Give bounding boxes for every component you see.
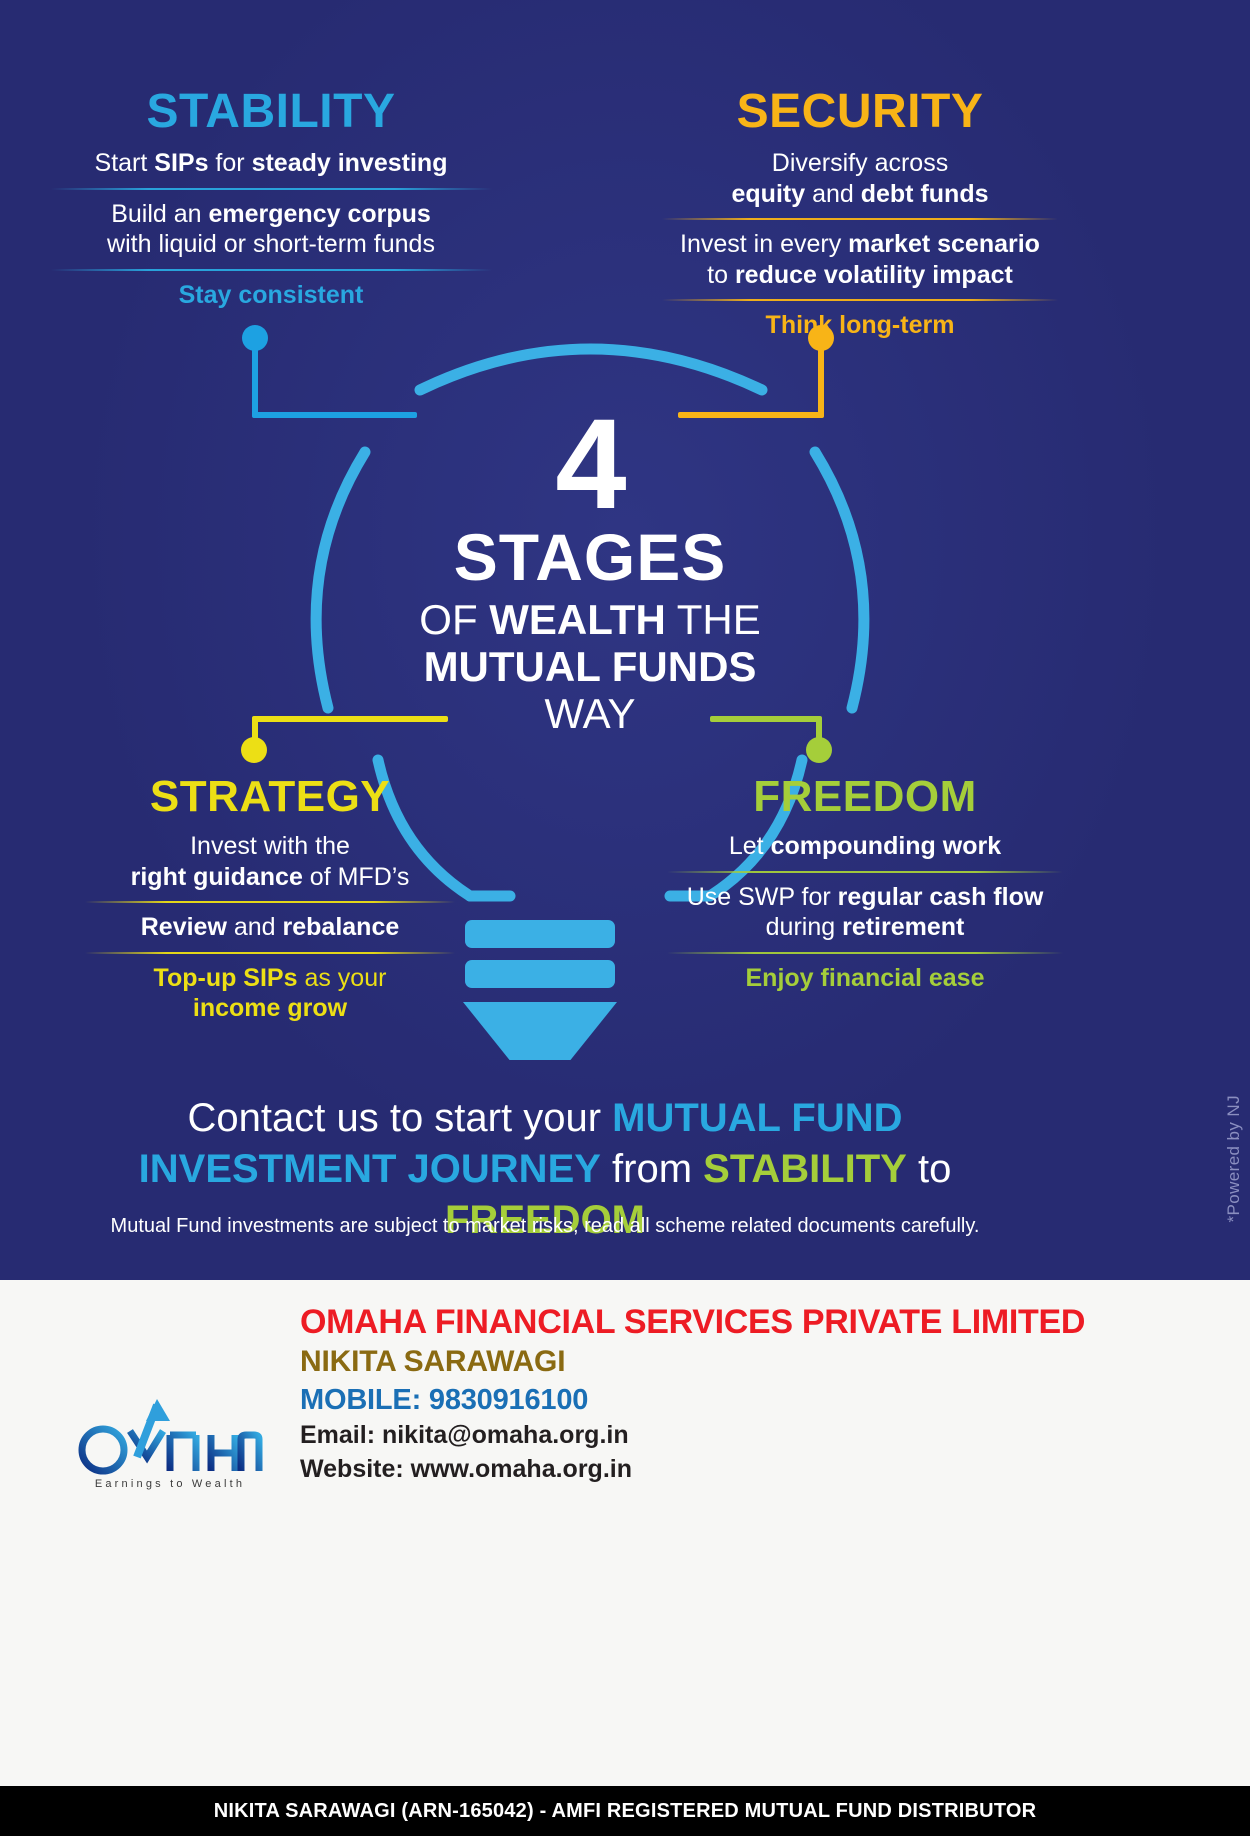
omaha-logo [75, 1373, 265, 1488]
quadrant-security-title: SECURITY [630, 88, 1090, 136]
st-l1-post: of MFD’s [303, 863, 410, 891]
quadrant-strategy-line3: Review and rebalance [60, 912, 480, 943]
footer-company-name: OMAHA FINANCIAL SERVICES PRIVATE LIMITED [300, 1303, 1170, 1342]
st-l2-b2: rebalance [283, 913, 400, 941]
s-l1-mid: for [208, 149, 251, 177]
st-tag-rest: as your [298, 964, 387, 992]
logo-letter-h [211, 1435, 235, 1471]
cta-part1: Contact us to start your [188, 1096, 613, 1140]
quadrant-freedom-rule-2 [667, 952, 1063, 954]
center-headline: 4 STAGES OF WEALTH THE MUTUAL FUNDS WAY [330, 410, 850, 737]
st-tag-b: Top-up SIPs [154, 964, 298, 992]
quadrant-strategy-title: STRATEGY [60, 775, 480, 819]
arn-disclosure-bar: NIKITA SARAWAGI (ARN-165042) - AMFI REGI… [0, 1786, 1250, 1836]
arn-disclosure-text: NIKITA SARAWAGI (ARN-165042) - AMFI REGI… [214, 1800, 1037, 1823]
se-l1-mid: and [805, 180, 861, 208]
headline-wealth: WEALTH [489, 596, 666, 643]
f-l2-mid: during [766, 913, 842, 941]
footer-person-name: NIKITA SARAWAGI [300, 1344, 1170, 1380]
cta-highlight-stability: STABILITY [703, 1147, 907, 1191]
f-l2-b2: retirement [842, 913, 964, 941]
powered-by-label: *Powered by NJ [1224, 1095, 1244, 1223]
footer-website[interactable]: Website: www.omaha.org.in [300, 1453, 1170, 1486]
st-l2-b1: Review [141, 913, 227, 941]
cta-highlight-mutual-fund: MUTUAL FUND [612, 1096, 902, 1140]
footer-email[interactable]: Email: nikita@omaha.org.in [300, 1419, 1170, 1452]
st-l2-mid: and [227, 913, 283, 941]
f-l1-pre: Let [729, 832, 771, 860]
cta-part2: from [601, 1147, 703, 1191]
logo-arrow-head [146, 1399, 170, 1421]
se-l1-b2: debt funds [861, 180, 989, 208]
cta-highlight-journey: INVESTMENT JOURNEY [139, 1147, 601, 1191]
quadrant-strategy-tag-line2: income grow [60, 993, 480, 1023]
s-l1-b2: steady investing [252, 149, 448, 177]
quadrant-freedom-rule-1 [667, 871, 1063, 873]
quadrant-stability-title: STABILITY [26, 88, 516, 136]
cta-part3: to [907, 1147, 951, 1191]
quadrant-security-line2: equity and debt funds [630, 179, 1090, 210]
headline-of: OF [419, 596, 489, 643]
quadrant-stability-line2: Build an emergency corpus [26, 199, 516, 230]
quadrant-security-rule-2 [662, 299, 1058, 301]
f-l1-b1: compounding work [771, 832, 1002, 860]
se-l2-b1: market scenario [848, 230, 1040, 258]
footer-contact-block: OMAHA FINANCIAL SERVICES PRIVATE LIMITED… [300, 1303, 1170, 1485]
connector-stability-vertical [252, 348, 258, 416]
headline-the: THE [666, 596, 761, 643]
quadrant-strategy-line2: right guidance of MFD’s [60, 862, 480, 893]
f-l2-pre: Use SWP for [687, 883, 838, 911]
headline-stages: STAGES [330, 524, 850, 590]
se-l2-mid: to [707, 261, 735, 289]
quadrant-strategy-rule-1 [85, 901, 455, 903]
s-l1-b1: SIPs [154, 149, 208, 177]
se-l2-pre: Invest in every [680, 230, 848, 258]
quadrant-strategy-rule-2 [85, 952, 455, 954]
quadrant-stability-line3: with liquid or short-term funds [26, 229, 516, 260]
s-l2-b1: emergency corpus [208, 200, 430, 228]
quadrant-stability-rule-1 [51, 188, 492, 190]
quadrant-security-rule-1 [662, 218, 1058, 220]
quadrant-freedom-title: FREEDOM [640, 775, 1090, 819]
infographic-page: 4 STAGES OF WEALTH THE MUTUAL FUNDS WAY … [0, 0, 1250, 1836]
quadrant-strategy-tag-line1: Top-up SIPs as your [60, 963, 480, 993]
bulb-arc-top [420, 349, 762, 390]
connector-dot-stability [242, 325, 268, 351]
f-l2-b1: regular cash flow [838, 883, 1044, 911]
quadrant-security-line1: Diversify across [630, 148, 1090, 179]
connector-dot-strategy [241, 737, 267, 763]
se-l1-b1: equity [732, 180, 806, 208]
quadrant-stability-tag: Stay consistent [26, 280, 516, 310]
quadrant-strategy-line1: Invest with the [60, 831, 480, 862]
se-l2-b2: reduce volatility impact [735, 261, 1013, 289]
footer-mobile[interactable]: MOBILE: 9830916100 [300, 1382, 1170, 1418]
quadrant-security-line4: to reduce volatility impact [630, 260, 1090, 291]
quadrant-strategy: STRATEGY Invest with the right guidance … [60, 775, 480, 1023]
quadrant-freedom: FREEDOM Let compounding work Use SWP for… [640, 775, 1090, 993]
connector-dot-security [808, 325, 834, 351]
bulb-arrow-down [463, 1002, 617, 1060]
headline-way: WAY [330, 690, 850, 737]
quadrant-freedom-line2: Use SWP for regular cash flow [640, 882, 1090, 913]
quadrant-freedom-line3: during retirement [640, 912, 1090, 943]
quadrant-stability-line1: Start SIPs for steady investing [26, 148, 516, 179]
s-l1-pre: Start [95, 149, 155, 177]
logo-letter-o [82, 1429, 124, 1471]
bulb-base-bar-2 [465, 960, 615, 988]
connector-security-vertical [818, 348, 824, 416]
headline-of-wealth-the: OF WEALTH THE [330, 596, 850, 643]
omaha-logo-tagline: Earnings to Wealth [75, 1478, 265, 1490]
quadrant-stability-rule-2 [51, 269, 492, 271]
quadrant-freedom-tag: Enjoy financial ease [640, 963, 1090, 993]
logo-letter-a2 [241, 1435, 259, 1471]
quadrant-stability: STABILITY Start SIPs for steady investin… [26, 88, 516, 310]
bulb-base-bar-1 [465, 920, 615, 948]
connector-dot-freedom [806, 737, 832, 763]
disclaimer-text: Mutual Fund investments are subject to m… [40, 1215, 1050, 1238]
quadrant-security: SECURITY Diversify across equity and deb… [630, 88, 1090, 340]
st-l1-b1: right guidance [131, 863, 303, 891]
quadrant-security-line3: Invest in every market scenario [630, 229, 1090, 260]
quadrant-freedom-line1: Let compounding work [640, 831, 1090, 862]
s-l2-pre: Build an [111, 200, 208, 228]
headline-number: 4 [330, 410, 850, 520]
headline-mutual-funds: MUTUAL FUNDS [330, 643, 850, 690]
quadrant-security-tag: Think long-term [630, 310, 1090, 340]
